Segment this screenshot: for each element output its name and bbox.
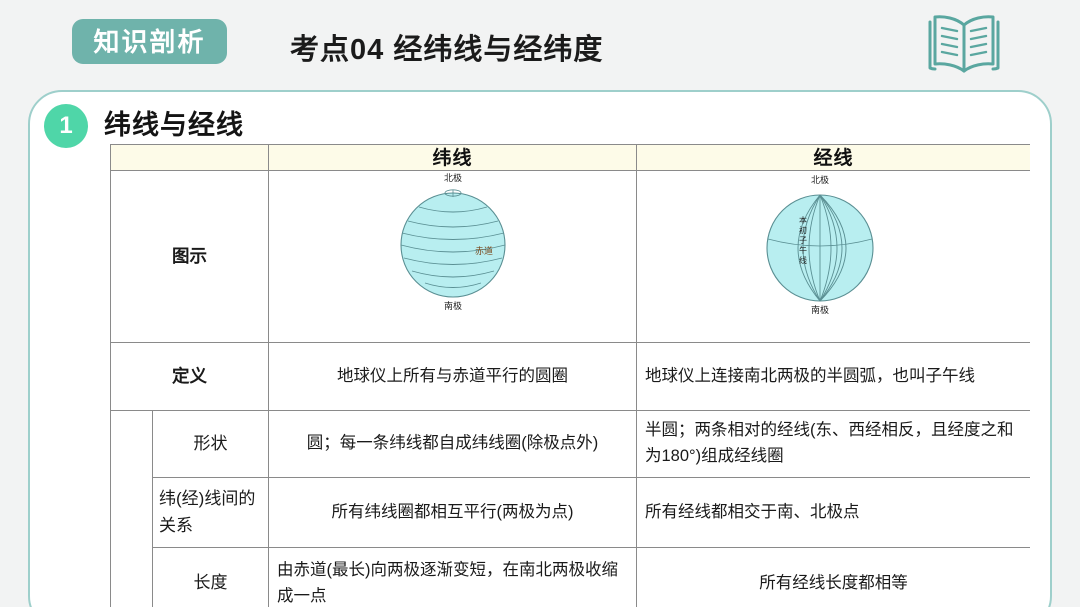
svg-text:初: 初 [799, 225, 807, 235]
svg-text:北极: 北极 [810, 174, 828, 185]
latitude-globe-cell: 北极 [269, 171, 637, 343]
svg-text:赤道: 赤道 [474, 245, 492, 256]
knowledge-analysis-chip: 知识剖析 [72, 19, 227, 64]
longitude-globe-diagram: 北极 [758, 167, 910, 317]
sub-group-column [111, 411, 153, 607]
row-label-length: 长度 [153, 548, 269, 607]
row-label-definition: 定义 [111, 343, 269, 411]
section-number: 1 [59, 114, 72, 138]
svg-text:子: 子 [799, 236, 807, 245]
definition-latitude: 地球仪上所有与赤道平行的圆圈 [269, 343, 637, 411]
shape-longitude: 半圆；两条相对的经线(东、西经相反，且经度之和为180°)组成经线圈 [637, 411, 1031, 478]
section-number-badge: 1 [44, 104, 88, 148]
length-latitude: 由赤道(最长)向两极逐渐变短，在南北两极收缩成一点 [269, 548, 637, 607]
chip-label: 知识剖析 [93, 29, 205, 55]
table-row: 图示 北极 [111, 171, 1031, 343]
svg-text:午: 午 [799, 245, 807, 255]
page-header: 知识剖析 考点04 经纬线与经纬度 [0, 0, 1080, 88]
svg-text:本: 本 [799, 215, 807, 225]
shape-latitude: 圆；每一条纬线都自成纬线圈(除极点外) [269, 411, 637, 478]
comparison-table-container: 纬线 经线 图示 北极 [110, 144, 1030, 607]
section-title: 纬线与经线 [104, 103, 244, 142]
table-row: 定义 地球仪上所有与赤道平行的圆圈 地球仪上连接南北两极的半圆弧，也叫子午线 [111, 343, 1031, 411]
row-label-relationship: 纬(经)线间的关系 [153, 478, 269, 548]
svg-text:南极: 南极 [810, 304, 828, 315]
table-row: 长度 由赤道(最长)向两极逐渐变短，在南北两极收缩成一点 所有经线长度都相等 [111, 548, 1031, 607]
slide-page: 知识剖析 考点04 经纬线与经纬度 [0, 0, 1080, 607]
svg-text:南极: 南极 [443, 300, 461, 311]
open-book-icon [925, 8, 1003, 78]
page-title: 考点04 经纬线与经纬度 [290, 26, 603, 68]
row-label-shape: 形状 [153, 411, 269, 478]
length-longitude: 所有经线长度都相等 [637, 548, 1031, 607]
comparison-table: 纬线 经线 图示 北极 [110, 144, 1030, 607]
table-row: 纬(经)线间的关系 所有纬线圈都相互平行(两极为点) 所有经线都相交于南、北极点 [111, 478, 1031, 548]
definition-longitude: 地球仪上连接南北两极的半圆弧，也叫子午线 [637, 343, 1031, 411]
row-label-diagram: 图示 [111, 171, 269, 343]
relationship-longitude: 所有经线都相交于南、北极点 [637, 478, 1031, 548]
longitude-globe-cell: 北极 [637, 171, 1031, 343]
relationship-latitude: 所有纬线圈都相互平行(两极为点) [269, 478, 637, 548]
table-row: 形状 圆；每一条纬线都自成纬线圈(除极点外) 半圆；两条相对的经线(东、西经相反… [111, 411, 1031, 478]
svg-text:北极: 北极 [443, 172, 461, 183]
header-cell-blank [111, 145, 269, 171]
latitude-globe-diagram: 北极 [378, 165, 528, 313]
svg-text:线: 线 [799, 255, 807, 265]
